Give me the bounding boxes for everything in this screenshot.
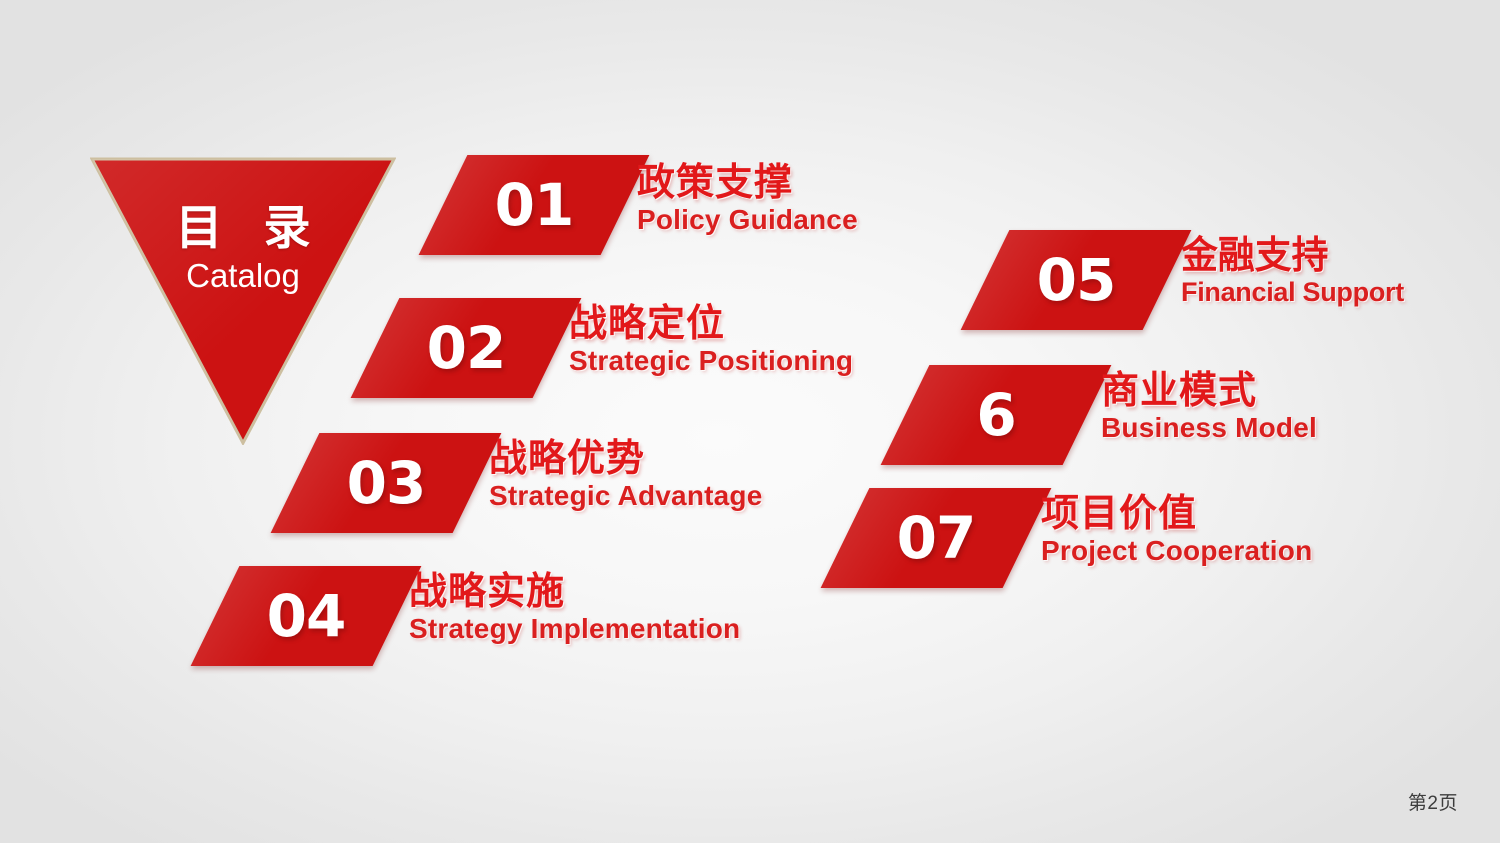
item-title-zh-06: 商业模式 [1101, 371, 1317, 412]
item-title-en-02: Strategic Positioning [569, 345, 853, 377]
catalog-title-en: Catalog [90, 258, 396, 294]
item-title-en-03: Strategic Advantage [489, 480, 763, 512]
item-title-zh-04: 战略实施 [409, 572, 740, 613]
item-text-03: 战略优势 Strategic Advantage [489, 439, 763, 512]
page-number: 第2页 [1408, 788, 1458, 815]
item-title-en-01: Policy Guidance [637, 204, 858, 236]
item-number-shape [821, 488, 1052, 588]
item-text-04: 战略实施 Strategy Implementation [409, 572, 740, 645]
item-title-en-05: Financial Support [1181, 277, 1404, 308]
item-text-01: 政策支撑 Policy Guidance [637, 163, 858, 236]
item-title-zh-05: 金融支持 [1181, 236, 1397, 277]
item-number-shape [881, 365, 1112, 465]
item-title-zh-01: 政策支撑 [637, 163, 858, 204]
item-text-07: 项目价值 Project Cooperation [1041, 494, 1312, 567]
item-title-en-06: Business Model [1101, 412, 1317, 444]
slide-canvas: 目 录 Catalog 01 政策支撑 Policy Guidance 02 战… [0, 0, 1500, 843]
item-text-06: 商业模式 Business Model [1101, 371, 1317, 444]
item-title-zh-02: 战略定位 [569, 304, 853, 345]
triangle-shape [90, 155, 396, 445]
item-text-05: 金融支持 Financial Support [1181, 236, 1404, 308]
item-number-shape [419, 155, 650, 255]
item-title-en-07: Project Cooperation [1041, 535, 1312, 567]
item-number-shape [271, 433, 502, 533]
item-title-zh-07: 项目价值 [1041, 494, 1312, 535]
catalog-triangle: 目 录 Catalog [90, 155, 396, 445]
item-number-shape [961, 230, 1192, 330]
catalog-title-zh: 目 录 [90, 203, 396, 252]
item-text-02: 战略定位 Strategic Positioning [569, 304, 853, 377]
item-title-zh-03: 战略优势 [489, 439, 763, 480]
item-number-shape [191, 566, 422, 666]
item-title-en-04: Strategy Implementation [409, 613, 740, 645]
